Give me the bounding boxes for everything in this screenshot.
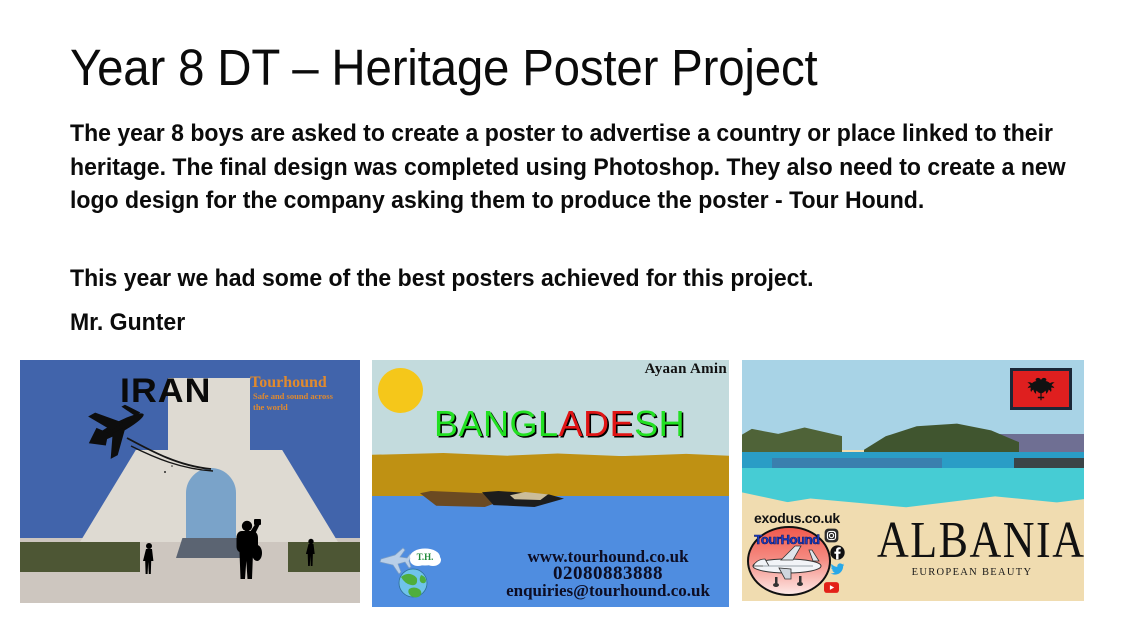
title-letter-1: A	[459, 403, 484, 444]
albania-poster-title: ALBANIA	[877, 510, 1067, 570]
iran-brand-name: Tourhound	[250, 374, 360, 391]
page-title: Year 8 DT – Heritage Poster Project	[70, 38, 817, 98]
student-name: Ayaan Amin	[645, 361, 727, 378]
title-letter-4: L	[538, 403, 559, 444]
person-silhouette	[306, 538, 316, 566]
title-letter-6: D	[583, 403, 610, 444]
poster-albania[interactable]: ALBANIA EUROPEAN BEAUTY exodus.co.uk	[742, 360, 1084, 601]
title-letter-3: G	[510, 403, 539, 444]
double-headed-eagle-icon	[1025, 377, 1057, 401]
person-taking-photo-silhouette	[234, 517, 262, 579]
iran-poster-title: IRAN	[120, 372, 211, 411]
instagram-icon[interactable]	[824, 528, 839, 543]
bangladesh-poster-title: BANGLADESH	[434, 403, 685, 445]
azadi-tower-arch	[186, 468, 236, 546]
person-silhouette	[143, 542, 155, 575]
contact-phone: 02080883888	[492, 565, 724, 582]
sun-icon	[378, 368, 423, 413]
title-letter-9: H	[659, 403, 686, 444]
albania-poster-subtitle: EUROPEAN BEAUTY	[877, 567, 1067, 578]
cloud-logo-text: T.H.	[417, 552, 434, 562]
iran-brand-tagline-1: Safe and sound across	[250, 391, 360, 402]
title-letter-5: A	[559, 403, 584, 444]
tourhound-globe-plane-logo: T.H.	[377, 543, 447, 598]
title-letter-8: S	[634, 403, 659, 444]
title-letter-2: N	[483, 403, 510, 444]
iran-grass-right-lower	[316, 556, 360, 572]
albania-brand-url: exodus.co.uk	[754, 510, 840, 526]
slide-canvas: Year 8 DT – Heritage Poster Project The …	[0, 0, 1146, 626]
bangladesh-riverbank	[372, 453, 729, 498]
contact-email: enquiries@tourhound.co.uk	[492, 582, 724, 599]
poster-iran[interactable]: IRAN Tourhound Safe and sound across the…	[20, 360, 360, 603]
signature-paragraph: Mr. Gunter	[70, 306, 446, 340]
note-paragraph: This year we had some of the best poster…	[70, 262, 1010, 296]
title-letter-0: B	[434, 403, 459, 444]
iran-grass-left-lower	[20, 556, 90, 572]
youtube-icon[interactable]	[824, 580, 839, 595]
globe-icon	[399, 569, 427, 598]
albanian-flag	[1010, 368, 1072, 410]
title-letter-7: E	[610, 403, 635, 444]
cloud-icon: T.H.	[410, 549, 441, 567]
facebook-icon[interactable]	[830, 545, 845, 560]
poster-bangladesh[interactable]: Ayaan Amin BANGLADESH T.H. www.tourhound…	[372, 360, 729, 607]
vapour-trail	[125, 436, 215, 478]
twitter-icon[interactable]	[830, 562, 845, 577]
tourhound-logo-text: TourHound	[748, 532, 826, 547]
iran-brand-tagline-2: the world	[250, 402, 360, 413]
iran-brand-block: Tourhound Safe and sound across the worl…	[250, 374, 360, 413]
intro-paragraph: The year 8 boys are asked to create a po…	[70, 117, 1066, 218]
bangladesh-contact-block: www.tourhound.co.uk 02080883888 enquirie…	[492, 548, 724, 599]
